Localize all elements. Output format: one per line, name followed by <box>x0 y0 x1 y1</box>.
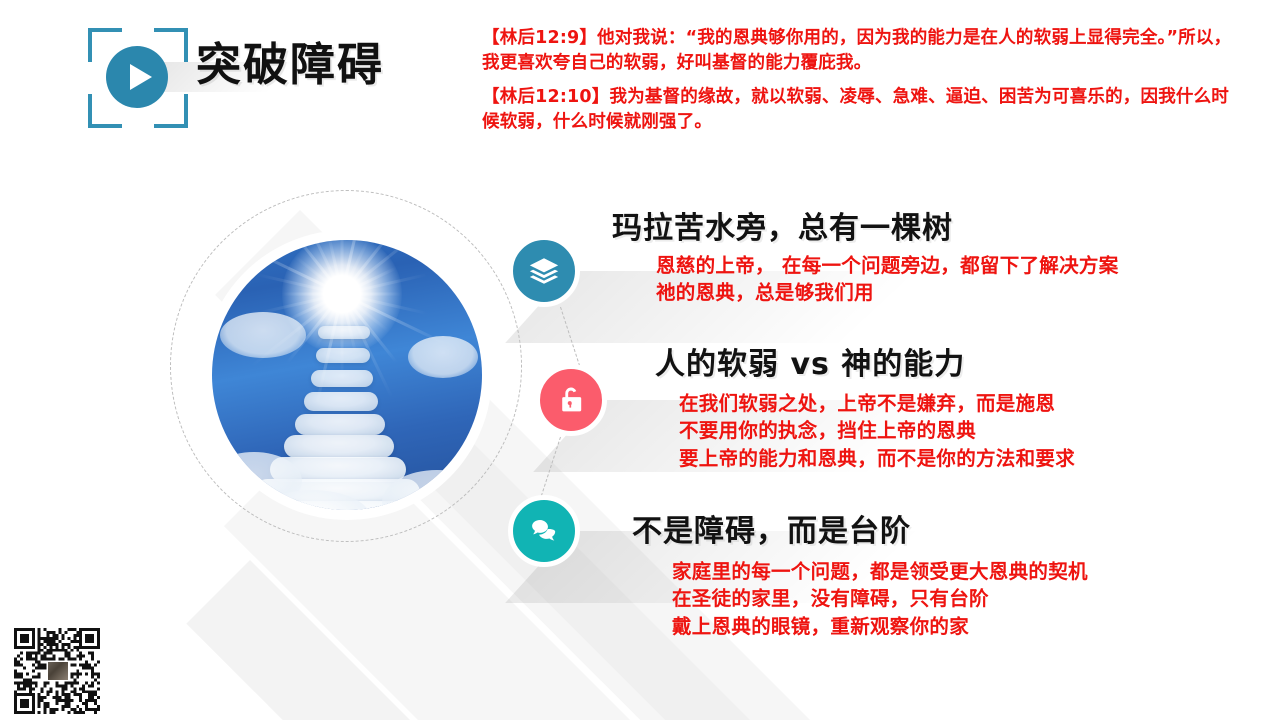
chat-bubbles-icon[interactable] <box>508 495 580 567</box>
section-line: 戴上恩典的眼镜，重新观察你的家 <box>672 613 1088 641</box>
section-heading: 玛拉苦水旁，总有一棵树 <box>612 212 1119 247</box>
section-heading: 人的软弱 vs 神的能力 <box>655 348 1075 383</box>
section-body: 恩慈的上帝， 在每一个问题旁边，都留下了解决方案 祂的恩典，总是够我们用 <box>656 252 1119 307</box>
stairway-of-clouds-image <box>212 240 482 510</box>
play-button-icon <box>106 46 168 108</box>
section-line: 要上帝的能力和恩典，而不是你的方法和要求 <box>679 445 1075 473</box>
section-line: 不要用你的执念，挡住上帝的恩典 <box>679 417 1075 445</box>
section-heading: 不是障碍，而是台阶 <box>632 515 1088 550</box>
unlock-icon[interactable] <box>535 364 607 436</box>
content-section-2: 人的软弱 vs 神的能力 在我们软弱之处，上帝不是嫌弃，而是施恩 不要用你的执念… <box>655 348 1075 473</box>
qr-code[interactable] <box>14 628 100 714</box>
stairway-visual <box>170 190 540 560</box>
layers-icon[interactable] <box>508 235 580 307</box>
qr-center-logo <box>47 661 69 681</box>
photo-frame <box>212 240 482 510</box>
section-line: 祂的恩典，总是够我们用 <box>656 279 1119 307</box>
timeline-connector <box>541 437 561 496</box>
section-line: 家庭里的每一个问题，都是领受更大恩典的契机 <box>672 558 1088 586</box>
content-section-3: 不是障碍，而是台阶 家庭里的每一个问题，都是领受更大恩典的契机 在圣徒的家里，没… <box>632 515 1088 641</box>
content-section-1: 玛拉苦水旁，总有一棵树 恩慈的上帝， 在每一个问题旁边，都留下了解决方案 祂的恩… <box>612 212 1119 307</box>
scripture-verse: 【林后12:10】我为基督的缘故，就以软弱、凌辱、急难、逼迫、困苦为可喜乐的，因… <box>482 85 1242 135</box>
timeline-connector <box>560 307 580 366</box>
scripture-block: 【林后12:9】他对我说：“我的恩典够你用的，因为我的能力是在人的软弱上显得完全… <box>482 26 1242 134</box>
section-body: 家庭里的每一个问题，都是领受更大恩典的契机 在圣徒的家里，没有障碍，只有台阶 戴… <box>672 558 1088 641</box>
scripture-verse: 【林后12:9】他对我说：“我的恩典够你用的，因为我的能力是在人的软弱上显得完全… <box>482 26 1242 76</box>
section-line: 恩慈的上帝， 在每一个问题旁边，都留下了解决方案 <box>656 252 1119 280</box>
page-title: 突破障碍 <box>196 42 384 87</box>
logo <box>88 28 188 128</box>
section-line: 在我们软弱之处，上帝不是嫌弃，而是施恩 <box>679 390 1075 418</box>
section-line: 在圣徒的家里，没有障碍，只有台阶 <box>672 585 1088 613</box>
section-body: 在我们软弱之处，上帝不是嫌弃，而是施恩 不要用你的执念，挡住上帝的恩典 要上帝的… <box>679 390 1075 473</box>
